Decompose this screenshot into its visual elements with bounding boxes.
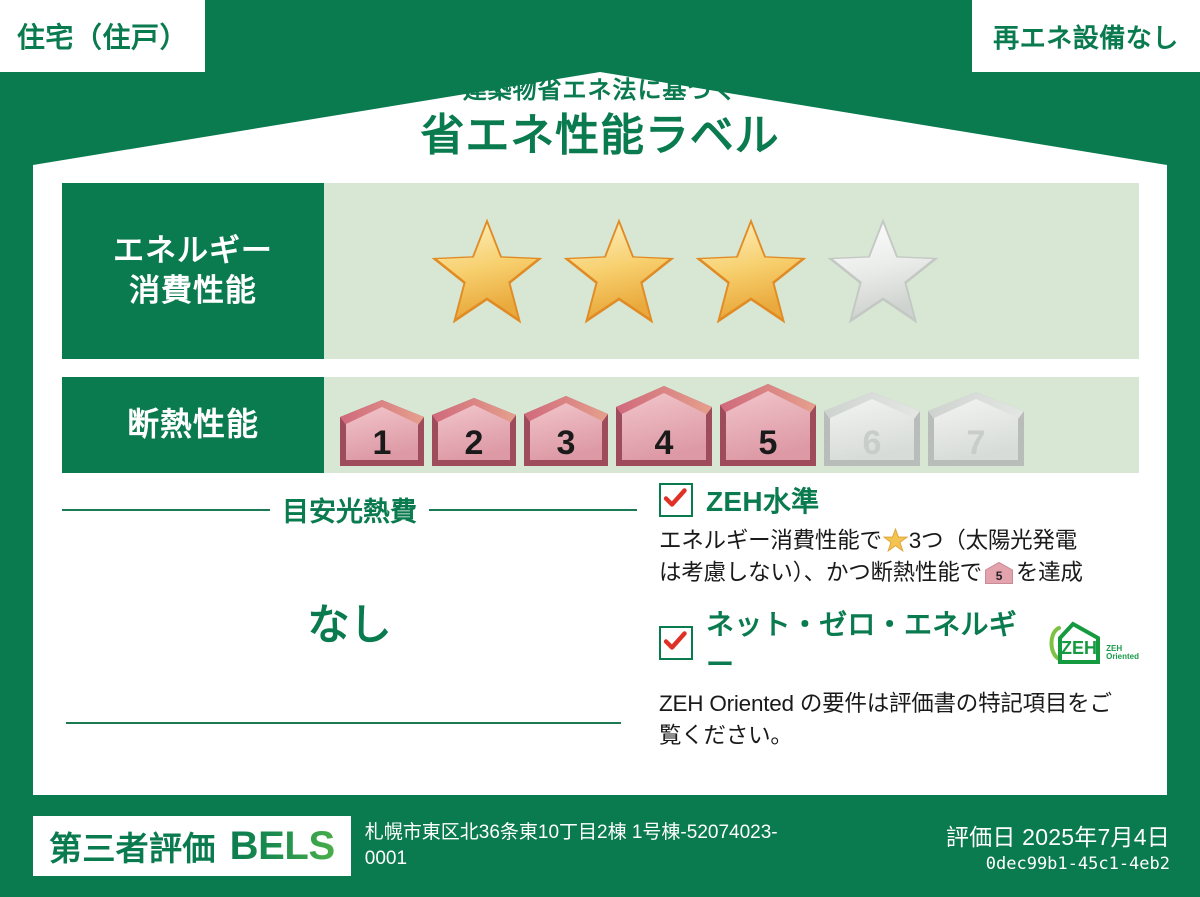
energy-rating-body — [324, 183, 1139, 359]
insulation-level-number: 5 — [759, 424, 778, 462]
insulation-performance-panel: 断熱性能 1234567 — [62, 377, 1139, 473]
star-rating — [428, 215, 942, 327]
zeh-logo-caption: ZEH Oriented — [1106, 645, 1139, 665]
energy-label-line1: エネルギー — [113, 231, 273, 271]
zeh-section: ZEH水準 エネルギー消費性能で3つ（太陽光発電 は考慮しない）、かつ断熱性能で… — [637, 480, 1139, 770]
star-filled-icon — [428, 215, 546, 327]
utility-cost-heading-text: 目安光熱費 — [282, 490, 417, 529]
insulation-level-number: 3 — [557, 424, 576, 462]
bels-logo: 第三者評価 BELS — [33, 816, 351, 876]
badge-renewable-equipment-text: 再エネ設備なし — [993, 18, 1179, 55]
utility-cost-heading: 目安光熱費 — [62, 480, 637, 529]
zeh-logo-icon: ZEH — [1042, 621, 1104, 665]
zeh-logo-caption-line2: Oriented — [1106, 653, 1139, 661]
insulation-level-number: 6 — [863, 424, 882, 462]
zeh-standard-block: ZEH水準 エネルギー消費性能で3つ（太陽光発電 は考慮しない）、かつ断熱性能で… — [659, 480, 1139, 589]
rule-right — [429, 509, 637, 511]
zeh-net-zero-row: ネット・ゼロ・エネルギー ZEH ZEH Oriented — [659, 603, 1139, 683]
zeh-logo-text: ZEH — [1061, 638, 1097, 658]
insulation-level-number: 1 — [373, 424, 392, 462]
evaluation-id: 0dec99b1-45c1-4eb2 — [946, 854, 1170, 874]
lower-section: 目安光熱費 なし ZEH水準 エネルギー消費性能で3つ（太陽光発電 — [62, 480, 1139, 770]
utility-cost-value: なし — [62, 591, 637, 652]
inline-house-level-text: 5 — [996, 569, 1003, 583]
zeh-standard-description: エネルギー消費性能で3つ（太陽光発電 は考慮しない）、かつ断熱性能で5を達成 — [659, 525, 1139, 589]
badge-building-type-text: 住宅（住戸） — [17, 16, 188, 56]
zeh-standard-row: ZEH水準 — [659, 480, 1139, 520]
energy-consumption-panel: エネルギー 消費性能 — [62, 183, 1139, 359]
zeh-desc-part-c: を達成 — [1016, 560, 1083, 585]
check-icon — [662, 485, 688, 511]
insulation-level-number: 2 — [465, 424, 484, 462]
zeh-net-zero-description: ZEH Oriented の要件は評価書の特記項目をご覧ください。 — [659, 688, 1129, 752]
zeh-net-zero-block: ネット・ゼロ・エネルギー ZEH ZEH Oriented ZEH Ori — [659, 603, 1139, 752]
utility-cost-bottom-rule — [66, 722, 621, 724]
insulation-performance-label: 断熱性能 — [62, 377, 324, 473]
star-empty-icon — [824, 215, 942, 327]
insulation-house-filled: 4 — [612, 384, 716, 468]
insulation-level-scale: 1234567 — [336, 382, 1028, 468]
title-main: 省エネ性能ラベル — [0, 108, 1200, 163]
insulation-level-number: 4 — [655, 424, 674, 462]
bels-en-text: BELS — [230, 824, 335, 869]
insulation-house-empty: 6 — [820, 390, 924, 468]
insulation-rating-body: 1234567 — [324, 377, 1139, 473]
insulation-level-number: 7 — [967, 424, 986, 462]
zeh-net-zero-title: ネット・ゼロ・エネルギー — [706, 603, 1025, 683]
zeh-standard-checkbox[interactable] — [659, 483, 693, 517]
star-filled-icon — [692, 215, 810, 327]
evaluation-date: 評価日 2025年7月4日 — [946, 818, 1170, 852]
insulation-house-filled: 1 — [336, 398, 428, 468]
property-address: 札幌市東区北36条東10丁目2棟 1号棟-52074023-0001 — [365, 820, 805, 871]
zeh-oriented-logo: ZEH ZEH Oriented — [1042, 621, 1139, 665]
energy-consumption-label: エネルギー 消費性能 — [62, 183, 324, 359]
zeh-standard-title: ZEH水準 — [706, 480, 819, 520]
insulation-house-empty: 7 — [924, 390, 1028, 468]
bels-jp-text: 第三者評価 — [49, 822, 216, 870]
zeh-net-zero-checkbox[interactable] — [659, 626, 693, 660]
energy-label-line2: 消費性能 — [129, 271, 257, 311]
zeh-desc-part-b: は考慮しない）、かつ断熱性能で — [659, 560, 982, 585]
footer: 第三者評価 BELS 札幌市東区北36条東10丁目2棟 1号棟-52074023… — [0, 795, 1200, 897]
page-title: 建築物省エネ法に基づく 省エネ性能ラベル — [0, 78, 1200, 163]
insulation-label-text: 断熱性能 — [127, 404, 259, 446]
rule-left — [62, 509, 270, 511]
zeh-desc-star-count: 3つ（太陽光発電 — [909, 528, 1077, 553]
utility-cost-section: 目安光熱費 なし — [62, 480, 637, 770]
inline-star-icon — [883, 528, 908, 552]
inline-house-level-icon: 5 — [984, 561, 1014, 585]
energy-performance-label: 住宅（住戸） 再エネ設備なし 建築物省エネ法に基づく 省エネ性能ラベル エネルギ… — [0, 0, 1200, 897]
badge-building-type: 住宅（住戸） — [0, 0, 205, 72]
evaluation-info: 評価日 2025年7月4日 0dec99b1-45c1-4eb2 — [946, 818, 1170, 874]
title-subtitle: 建築物省エネ法に基づく — [0, 78, 1200, 104]
insulation-house-filled: 5 — [716, 382, 820, 468]
check-icon — [662, 628, 688, 654]
insulation-house-filled: 2 — [428, 396, 520, 468]
insulation-house-filled: 3 — [520, 394, 612, 468]
badge-renewable-equipment: 再エネ設備なし — [972, 0, 1200, 72]
zeh-desc-part-a: エネルギー消費性能で — [659, 528, 882, 553]
star-filled-icon — [560, 215, 678, 327]
